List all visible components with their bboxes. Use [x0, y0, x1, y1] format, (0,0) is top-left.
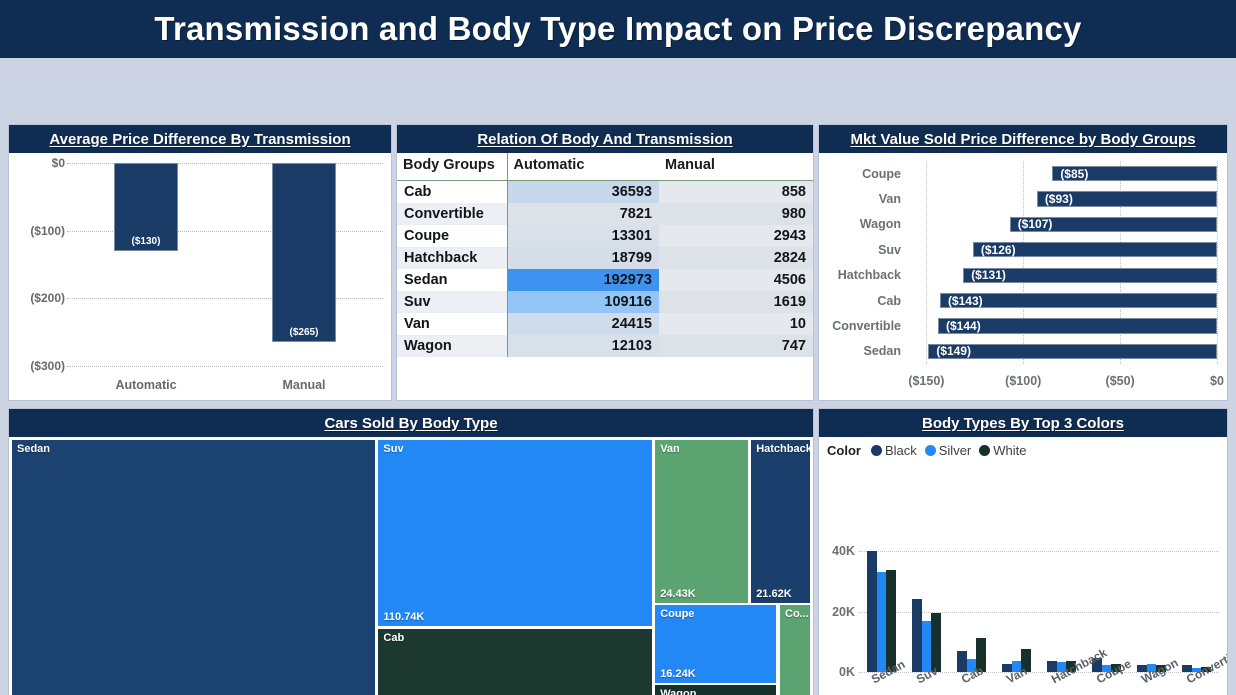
cell-body-group[interactable]: Van [397, 313, 507, 335]
treemap-tile[interactable]: Van24.43K [654, 439, 748, 604]
cell-automatic[interactable]: 12103 [507, 335, 659, 357]
treemap-tile-label: Sedan [17, 443, 50, 455]
treemap-tile-label: Cab [383, 632, 404, 644]
y-axis-tick-label: 20K [832, 605, 855, 619]
category-label: Sedan [863, 344, 901, 358]
dashboard-banner: Transmission and Body Type Impact on Pri… [0, 0, 1236, 58]
y-axis-tick-label: ($100) [30, 224, 65, 238]
bar[interactable]: ($85) [1052, 166, 1217, 181]
treemap-tile[interactable]: Hatchback21.62K [750, 439, 811, 604]
treemap-tile-label: Co... [785, 608, 809, 620]
x-axis-tick-label: ($100) [1005, 374, 1041, 388]
legend-item[interactable]: Black [871, 443, 917, 458]
cell-body-group[interactable]: Coupe [397, 225, 507, 247]
panel-body-treemap: Sedan197.48KSuv110.74KCab37.45KVan24.43K… [9, 437, 813, 695]
treemap-tile[interactable]: Cab37.45K [377, 628, 652, 695]
bar-value-label: ($143) [941, 294, 983, 308]
category-label: Convertible [832, 319, 901, 333]
bar[interactable]: ($144) [938, 318, 1217, 333]
cell-body-group[interactable]: Convertible [397, 203, 507, 225]
bar[interactable] [912, 599, 922, 672]
legend-swatch-icon [925, 445, 936, 456]
panel-average-price-difference[interactable]: Average Price Difference By Transmission… [8, 124, 392, 401]
panel-body-mkt-value: CoupeVanWagonSuvHatchbackCabConvertibleS… [819, 153, 1227, 400]
chart-plot-area [859, 527, 1219, 672]
x-axis-tick-label: ($50) [1106, 374, 1135, 388]
bar[interactable] [957, 651, 967, 672]
treemap-tile[interactable]: Sedan197.48K [11, 439, 376, 695]
dashboard-grid: Average Price Difference By Transmission… [0, 58, 1236, 695]
panel-header-relation: Relation Of Body And Transmission [397, 125, 813, 153]
cell-body-group[interactable]: Wagon [397, 335, 507, 357]
table-head: Body Groups Automatic Manual [397, 153, 813, 181]
bar[interactable] [867, 551, 877, 672]
bar-value-label: ($131) [964, 268, 1006, 282]
legend-swatch-icon [979, 445, 990, 456]
bar[interactable]: ($126) [973, 242, 1217, 257]
treemap-tile-label: Hatchback [756, 443, 811, 455]
table-row[interactable]: Convertible7821980 [397, 203, 813, 225]
table-header-row: Body Groups Automatic Manual [397, 153, 813, 181]
bar-value-label: ($93) [1038, 192, 1073, 206]
y-axis-tick-label: 40K [832, 544, 855, 558]
panel-title-average-price: Average Price Difference By Transmission [49, 131, 350, 148]
gridline [67, 298, 383, 299]
bar[interactable]: ($130) [114, 163, 177, 251]
treemap-tile-label: Suv [383, 443, 403, 455]
column-header-automatic[interactable]: Automatic [507, 153, 659, 181]
panel-header-average-price: Average Price Difference By Transmission [9, 125, 391, 153]
legend-item[interactable]: Silver [925, 443, 972, 458]
treemap-tile-value: 110.74K [383, 611, 424, 623]
x-axis-tick-label: $0 [1210, 374, 1224, 388]
treemap-chart[interactable]: Sedan197.48KSuv110.74KCab37.45KVan24.43K… [11, 439, 811, 695]
cell-manual[interactable]: 980 [659, 203, 813, 225]
y-axis-tick-label: 0K [839, 665, 855, 679]
treemap-tile[interactable]: Wagon12.85K [654, 684, 777, 695]
bar-value-label: ($107) [1011, 217, 1053, 231]
cell-manual[interactable]: 2943 [659, 225, 813, 247]
column-header-manual[interactable]: Manual [659, 153, 813, 181]
table-row[interactable]: Hatchback187992824 [397, 247, 813, 269]
bar[interactable]: ($265) [272, 163, 335, 342]
table-row[interactable]: Sedan1929734506 [397, 269, 813, 291]
cell-body-group[interactable]: Suv [397, 291, 507, 313]
panel-body-relation: Body Groups Automatic Manual Cab36593858… [397, 153, 813, 400]
treemap-tile-value: 24.43K [660, 588, 695, 600]
panel-body-colors: ColorBlackSilverWhite 0K20K40K SedanSuvC… [819, 437, 1227, 695]
x-axis-tick-label: Manual [225, 378, 383, 392]
treemap-tile[interactable]: Coupe16.24K [654, 604, 777, 683]
column-header-body-groups[interactable]: Body Groups [397, 153, 507, 181]
cell-body-group[interactable]: Cab [397, 181, 507, 204]
category-label: Cab [877, 294, 901, 308]
category-label: Van [879, 192, 901, 206]
cell-automatic[interactable]: 24415 [507, 313, 659, 335]
panel-header-colors: Body Types By Top 3 Colors [819, 409, 1227, 437]
chart-plot-area: ($85)($93)($107)($126)($131)($143)($144)… [907, 161, 1217, 364]
legend-label: White [993, 443, 1026, 458]
legend-title: Color [827, 443, 861, 458]
panel-title-relation: Relation Of Body And Transmission [477, 131, 732, 148]
cell-manual[interactable]: 4506 [659, 269, 813, 291]
treemap-tile[interactable]: Suv110.74K [377, 439, 652, 627]
gridline [1217, 161, 1218, 364]
cell-manual[interactable]: 10 [659, 313, 813, 335]
gridline [859, 551, 1219, 552]
panel-cars-sold-by-body-type[interactable]: Cars Sold By Body Type Sedan197.48KSuv11… [8, 408, 814, 695]
x-axis-tick-label: Automatic [67, 378, 225, 392]
category-label: Coupe [862, 167, 901, 181]
bar[interactable] [886, 570, 896, 672]
bar[interactable]: ($93) [1037, 191, 1217, 206]
panel-body-types-by-colors[interactable]: Body Types By Top 3 Colors ColorBlackSil… [818, 408, 1228, 695]
legend-label: Silver [939, 443, 972, 458]
treemap-tile-value: 16.24K [660, 668, 695, 680]
treemap-tile[interactable]: Co...8.80K [779, 604, 811, 695]
bar-value-label: ($85) [1053, 167, 1088, 181]
chart-y-axis: 0K20K40K [819, 527, 857, 672]
table-body: Cab36593858Convertible7821980Coupe133012… [397, 181, 813, 358]
legend-swatch-icon [871, 445, 882, 456]
cell-automatic[interactable]: 13301 [507, 225, 659, 247]
category-label: Hatchback [838, 268, 901, 282]
treemap-tile-label: Wagon [660, 688, 696, 695]
grouped-column-chart[interactable]: ColorBlackSilverWhite 0K20K40K SedanSuvC… [819, 437, 1227, 695]
bar[interactable]: ($107) [1010, 217, 1217, 232]
bar-value-label: ($265) [273, 327, 334, 338]
cell-manual[interactable]: 858 [659, 181, 813, 204]
bar[interactable] [877, 572, 887, 672]
panel-title-mkt-value: Mkt Value Sold Price Difference by Body … [850, 131, 1195, 148]
cell-automatic[interactable]: 7821 [507, 203, 659, 225]
cell-automatic[interactable]: 36593 [507, 181, 659, 204]
bar-value-label: ($149) [929, 344, 971, 358]
y-axis-tick-label: ($300) [30, 359, 65, 373]
cell-automatic[interactable]: 192973 [507, 269, 659, 291]
bar[interactable]: ($131) [963, 268, 1217, 283]
chart-plot-area: ($130)($265) [67, 163, 383, 366]
legend-item[interactable]: White [979, 443, 1026, 458]
table-row[interactable]: Van2441510 [397, 313, 813, 335]
legend-label: Black [885, 443, 917, 458]
chart-y-axis: $0($100)($200)($300) [9, 163, 65, 366]
treemap-tile-label: Coupe [660, 608, 694, 620]
cell-manual[interactable]: 2824 [659, 247, 813, 269]
gridline [1023, 161, 1024, 364]
panel-header-treemap: Cars Sold By Body Type [9, 409, 813, 437]
cell-manual[interactable]: 1619 [659, 291, 813, 313]
gridline [67, 366, 383, 367]
relation-table[interactable]: Body Groups Automatic Manual Cab36593858… [397, 153, 813, 357]
cell-manual[interactable]: 747 [659, 335, 813, 357]
treemap-tile-value: 21.62K [756, 588, 791, 600]
cell-automatic[interactable]: 18799 [507, 247, 659, 269]
table-row[interactable]: Suv1091161619 [397, 291, 813, 313]
panel-title-treemap: Cars Sold By Body Type [324, 415, 497, 432]
bar-chart-mkt-value[interactable]: CoupeVanWagonSuvHatchbackCabConvertibleS… [819, 153, 1227, 400]
treemap-tile-label: Van [660, 443, 680, 455]
table-row[interactable]: Cab36593858 [397, 181, 813, 204]
x-axis-tick-label: ($150) [908, 374, 944, 388]
panel-mkt-value-price-difference[interactable]: Mkt Value Sold Price Difference by Body … [818, 124, 1228, 401]
bar-value-label: ($126) [974, 243, 1016, 257]
bar[interactable]: ($143) [940, 293, 1217, 308]
page-title: Transmission and Body Type Impact on Pri… [154, 10, 1081, 48]
panel-header-mkt-value: Mkt Value Sold Price Difference by Body … [819, 125, 1227, 153]
gridline [926, 161, 927, 364]
y-axis-tick-label: $0 [52, 156, 65, 170]
cell-body-group[interactable]: Sedan [397, 269, 507, 291]
category-label: Wagon [860, 217, 901, 231]
bar-value-label: ($144) [939, 319, 981, 333]
chart-legend[interactable]: ColorBlackSilverWhite [827, 443, 1030, 458]
category-label: Suv [878, 243, 901, 257]
bar[interactable]: ($149) [928, 344, 1217, 359]
panel-title-colors: Body Types By Top 3 Colors [922, 415, 1124, 432]
y-axis-tick-label: ($200) [30, 291, 65, 305]
column-chart-avg-price[interactable]: $0($100)($200)($300) ($130)($265) Automa… [9, 153, 391, 400]
panel-body-average-price: $0($100)($200)($300) ($130)($265) Automa… [9, 153, 391, 400]
bar-value-label: ($130) [115, 236, 176, 247]
table-row[interactable]: Wagon12103747 [397, 335, 813, 357]
panel-relation-body-transmission[interactable]: Relation Of Body And Transmission Body G… [396, 124, 814, 401]
table-row[interactable]: Coupe133012943 [397, 225, 813, 247]
cell-body-group[interactable]: Hatchback [397, 247, 507, 269]
cell-automatic[interactable]: 109116 [507, 291, 659, 313]
